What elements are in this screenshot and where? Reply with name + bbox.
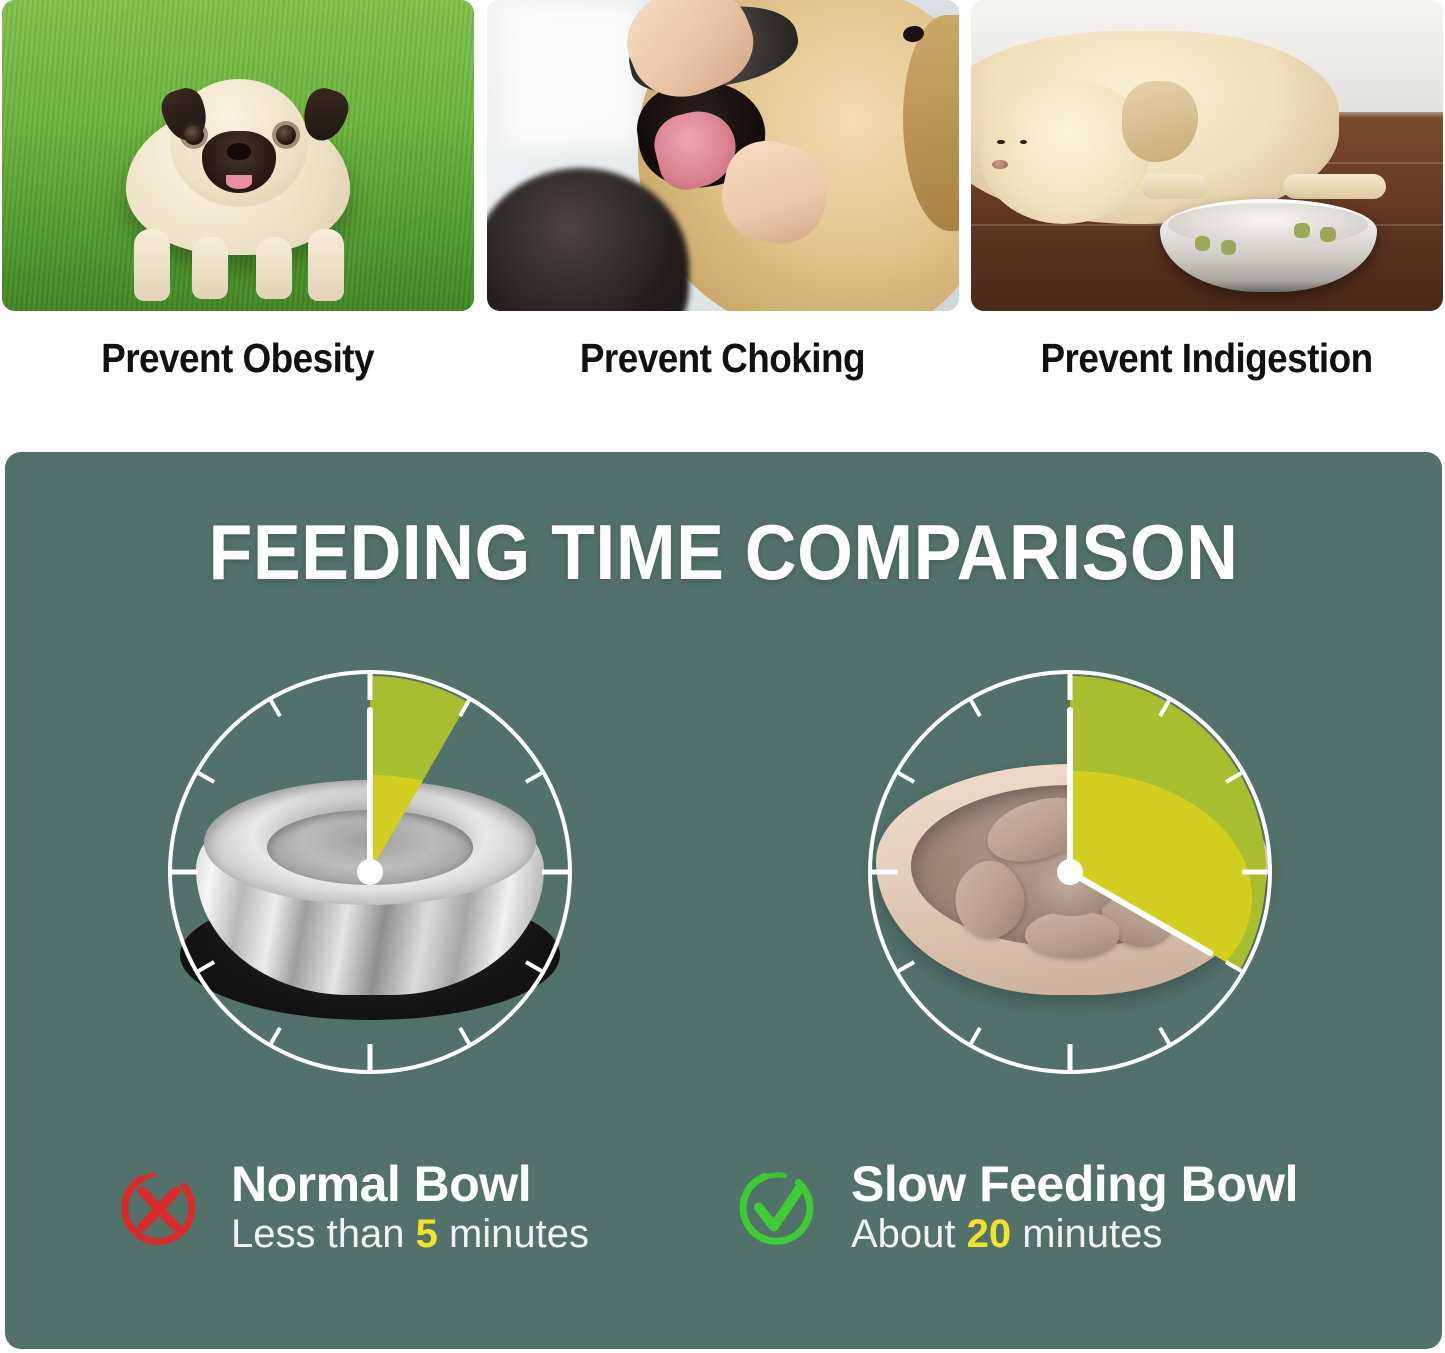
sub-suffix: minutes	[438, 1212, 589, 1256]
pug-leg	[192, 237, 228, 299]
cross-circle-icon	[115, 1165, 203, 1253]
benefit-caption-obesity: Prevent Obesity	[102, 335, 375, 382]
pug-leg	[134, 229, 170, 301]
photo-sad-labrador	[971, 0, 1443, 311]
sub-suffix: minutes	[1011, 1212, 1162, 1256]
benefits-strip: Prevent Obesity Prevent Choking	[0, 0, 1445, 440]
benefit-caption-choking: Prevent Choking	[580, 335, 865, 382]
clock-comparison-row	[5, 652, 1442, 1102]
kibble	[1195, 236, 1210, 251]
clock-dial-5-minutes	[150, 652, 590, 1092]
label-slow-feeding-bowl: Slow Feeding Bowl About 20 minutes	[735, 1159, 1298, 1259]
label-sub-slow-feeding-bowl: About 20 minutes	[851, 1210, 1298, 1259]
sub-prefix: About	[851, 1212, 967, 1256]
clock-normal-bowl	[150, 652, 590, 1092]
photo-overweight-pug	[2, 0, 474, 311]
labrador-nose	[992, 160, 1007, 169]
sub-prefix: Less than	[231, 1212, 416, 1256]
page-title: FEEDING TIME COMPARISON	[62, 507, 1384, 598]
labrador-eye	[1020, 140, 1028, 145]
photo-dog-mouth-check	[487, 0, 959, 311]
label-title-normal-bowl: Normal Bowl	[231, 1159, 589, 1210]
benefit-caption-indigestion: Prevent Indigestion	[1041, 335, 1373, 382]
label-sub-normal-bowl: Less than 5 minutes	[231, 1210, 589, 1259]
clock-dial-20-minutes	[850, 652, 1290, 1092]
comparison-labels: Normal Bowl Less than 5 minutes Slow Fee…	[5, 1159, 1442, 1309]
labrador-paw	[1141, 174, 1207, 199]
pug-nose	[227, 143, 251, 160]
check-circle-icon	[735, 1165, 823, 1253]
pug-leg	[308, 229, 344, 301]
pug-leg	[256, 237, 292, 299]
label-normal-bowl: Normal Bowl Less than 5 minutes	[115, 1159, 589, 1259]
labrador-paw	[1283, 174, 1387, 199]
pug-tongue	[226, 175, 252, 189]
sub-value: 5	[416, 1212, 438, 1256]
kibble	[1294, 223, 1309, 238]
kibble	[1320, 227, 1335, 242]
dog-ear	[903, 15, 959, 231]
benefit-card-indigestion: Prevent Indigestion	[971, 0, 1443, 440]
labrador-eye	[997, 140, 1005, 145]
benefit-card-choking: Prevent Choking	[487, 0, 959, 440]
kibble	[1221, 240, 1236, 255]
background-blur	[505, 6, 637, 146]
sub-value: 20	[967, 1212, 1012, 1256]
label-title-slow-feeding-bowl: Slow Feeding Bowl	[851, 1159, 1298, 1210]
pug-eye	[276, 125, 296, 145]
pug-eye	[184, 125, 204, 145]
feeding-time-comparison-panel: FEEDING TIME COMPARISON	[5, 452, 1442, 1349]
clock-slow-feeding-bowl	[850, 652, 1290, 1092]
benefit-card-obesity: Prevent Obesity	[2, 0, 474, 440]
